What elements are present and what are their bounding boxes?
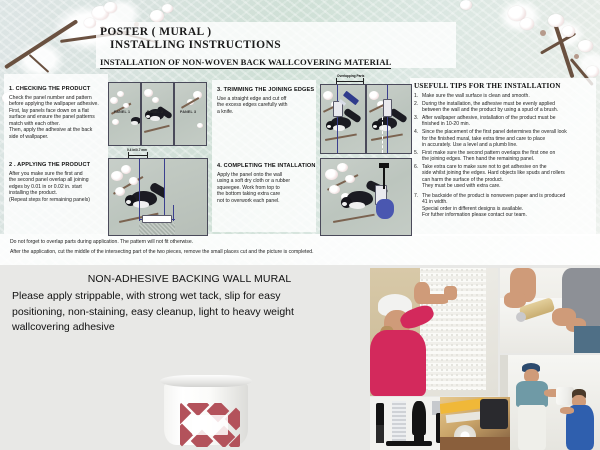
tip-item: 7. The backside of the product is nonwov… [414,193,596,219]
tip-text: Since the placement of the first panel d… [422,129,567,149]
step-2-line: After you make sure the first and [9,171,107,178]
step-1-line: match with each other. [9,121,107,128]
step-2-line: edges by 0.01 in or 0.02 in. start [9,184,107,191]
step-1-line: before applying the wallpaper adhesive. [9,101,107,108]
promo-line: wallcovering adhesive [12,320,367,336]
tip-number: 4. [414,129,422,149]
overlap-caption: Overlapping Parts [337,74,364,78]
step-3-line: the excess edges carefully with [217,102,317,109]
step-4-line: squeegee. Work from top to [217,185,317,192]
step-4-line: not to overwork each panel. [217,198,317,205]
step-1-line: surface and ensure the panel patterns [9,114,107,121]
tip-text: The backside of the product is nonwoven … [422,193,565,219]
tip-line: Make sure the wall surface is clean and … [422,93,530,100]
tip-line: For futher information please contact ou… [422,212,565,219]
tips-title: USEFULL TIPS FOR THE INSTALLATION [414,82,596,90]
adhesive-bucket-image [160,375,252,447]
bucket-label-text-area [192,415,228,435]
photo-wallpaper-roll-table [440,397,510,450]
step-4-body: Apply the panel onto the wall using a so… [217,172,317,205]
photo-man-and-child [500,355,600,450]
poster-subtitle: INSTALLATION OF NON-WOVEN BACK WALLCOVER… [100,57,391,69]
panel-label-1: PANEL 1 [114,110,130,114]
footer-notes: Do not forget to overlap parts during ap… [10,238,314,257]
step-1-line: side of wallpaper. [9,134,107,141]
tip-item: 3. After wallpaper adhesive, installatio… [414,115,596,128]
step-4-line: using a soft dry cloth or a rubber [217,178,317,185]
footer-note-line: Do not forget to overlap parts during ap… [10,238,314,248]
step-1-line: First, lay panels face down on a flat [9,108,107,115]
tip-text: First make sure the second pattern overl… [422,150,555,163]
tips-section: USEFULL TIPS FOR THE INSTALLATION 1. Mak… [414,82,596,220]
step-3-title: 3. TRIMMING THE JOINING EDGES [217,87,317,93]
step-4-line: the bottom taking extra care [217,191,317,198]
step-4-line: Apply the panel onto the wall [217,172,317,179]
tip-text: Take extra care to make sure not to get … [422,164,565,190]
tip-line: finished in 10-20 min. [422,121,556,128]
tip-text: After wallpaper adhesive, installation o… [422,115,556,128]
poster-header: POSTER ( MURAL ) INSTALLING INSTRUCTIONS… [100,26,440,70]
bucket-label [180,403,240,447]
bucket-lid [160,375,252,387]
tip-line: Since the placement of the first panel d… [422,129,567,136]
step-3-body: Use a straight edge and cut off the exce… [217,96,317,116]
panel-label-2: PANEL 2 [147,110,163,114]
step-4-block: 4. COMPLETING THE INTALLATION Apply the … [217,163,317,204]
tip-item: 5. First make sure the second pattern ov… [414,150,596,163]
step-3-block: 3. TRIMMING THE JOINING EDGES Use a stra… [217,87,317,115]
tip-line: They must be used with extra care. [422,183,565,190]
step-1-body: Check the panel number and pattern befor… [9,95,107,141]
step-2-line: (Repeat steps for remaining panels) [9,197,107,204]
step-2-title: 2 . APPLYING THE PRODUCT [9,162,107,168]
tip-item: 2. During the installation, the adhesive… [414,101,596,114]
tip-item: 1. Make sure the wall surface is clean a… [414,93,596,100]
photo-roller-application [500,268,600,353]
tip-line: the joining edges. Then hand the remaini… [422,156,555,163]
step-1-block: 1. CHECKING THE PRODUCT Check the panel … [9,86,107,141]
panel-label-3: PANEL 3 [180,110,196,114]
step-2-line: the second panel overlap all joining [9,177,107,184]
tip-number: 2. [414,101,422,114]
promo-title: NON-ADHESIVE BACKING WALL MURAL [12,273,367,285]
step-2-line: installing the product. [9,190,107,197]
tip-item: 6. Take extra care to make sure not to g… [414,164,596,190]
instruction-sheet: POSTER ( MURAL ) INSTALLING INSTRUCTIONS… [0,0,600,265]
step-3-line: Use a straight edge and cut off [217,96,317,103]
bucket-body [164,383,248,445]
promo-section: NON-ADHESIVE BACKING WALL MURAL Please a… [12,270,367,336]
overlap-measure-label: 0.4 in/0.7 mm [127,148,147,152]
tip-number: 1. [414,93,422,100]
promo-line: positioning, non-staining, easy cleanup,… [12,305,367,321]
step-2-block: 2 . APPLYING THE PRODUCT After you make … [9,162,107,203]
step-2-body: After you make sure the first and the se… [9,171,107,204]
step-3-line: a knife. [217,109,317,116]
tip-number: 6. [414,164,422,190]
tip-item: 4. Since the placement of the first pane… [414,129,596,149]
tip-number: 3. [414,115,422,128]
tip-number: 7. [414,193,422,219]
diagram-applying-product [108,158,208,236]
promo-line: Please apply strippable, with strong wet… [12,289,367,305]
step-1-title: 1. CHECKING THE PRODUCT [9,86,107,92]
tip-text: Make sure the wall surface is clean and … [422,93,530,100]
photo-woman-hanging-wallpaper [370,268,498,396]
tip-line: side whilst joining the edges. Hard obje… [422,170,565,177]
poster-page: POSTER ( MURAL ) INSTALLING INSTRUCTIONS… [0,0,600,450]
tip-text: During the installation, the adhesive mu… [422,101,558,114]
step-4-title: 4. COMPLETING THE INTALLATION [217,163,317,169]
poster-title-line1: POSTER ( MURAL ) [100,26,440,39]
diagram-completing-installation [320,158,412,236]
poster-title-line2: INSTALLING INSTRUCTIONS [110,39,440,52]
tip-line: in accurately. Use a level and a plumb l… [422,142,567,149]
step-1-line: Check the panel number and pattern [9,95,107,102]
step-1-line: Then, apply the adhesive at the back [9,127,107,134]
tip-line: between the wall and the product by usin… [422,107,558,114]
tip-number: 5. [414,150,422,163]
footer-note-line: After the application, cut the middle of… [10,248,314,258]
